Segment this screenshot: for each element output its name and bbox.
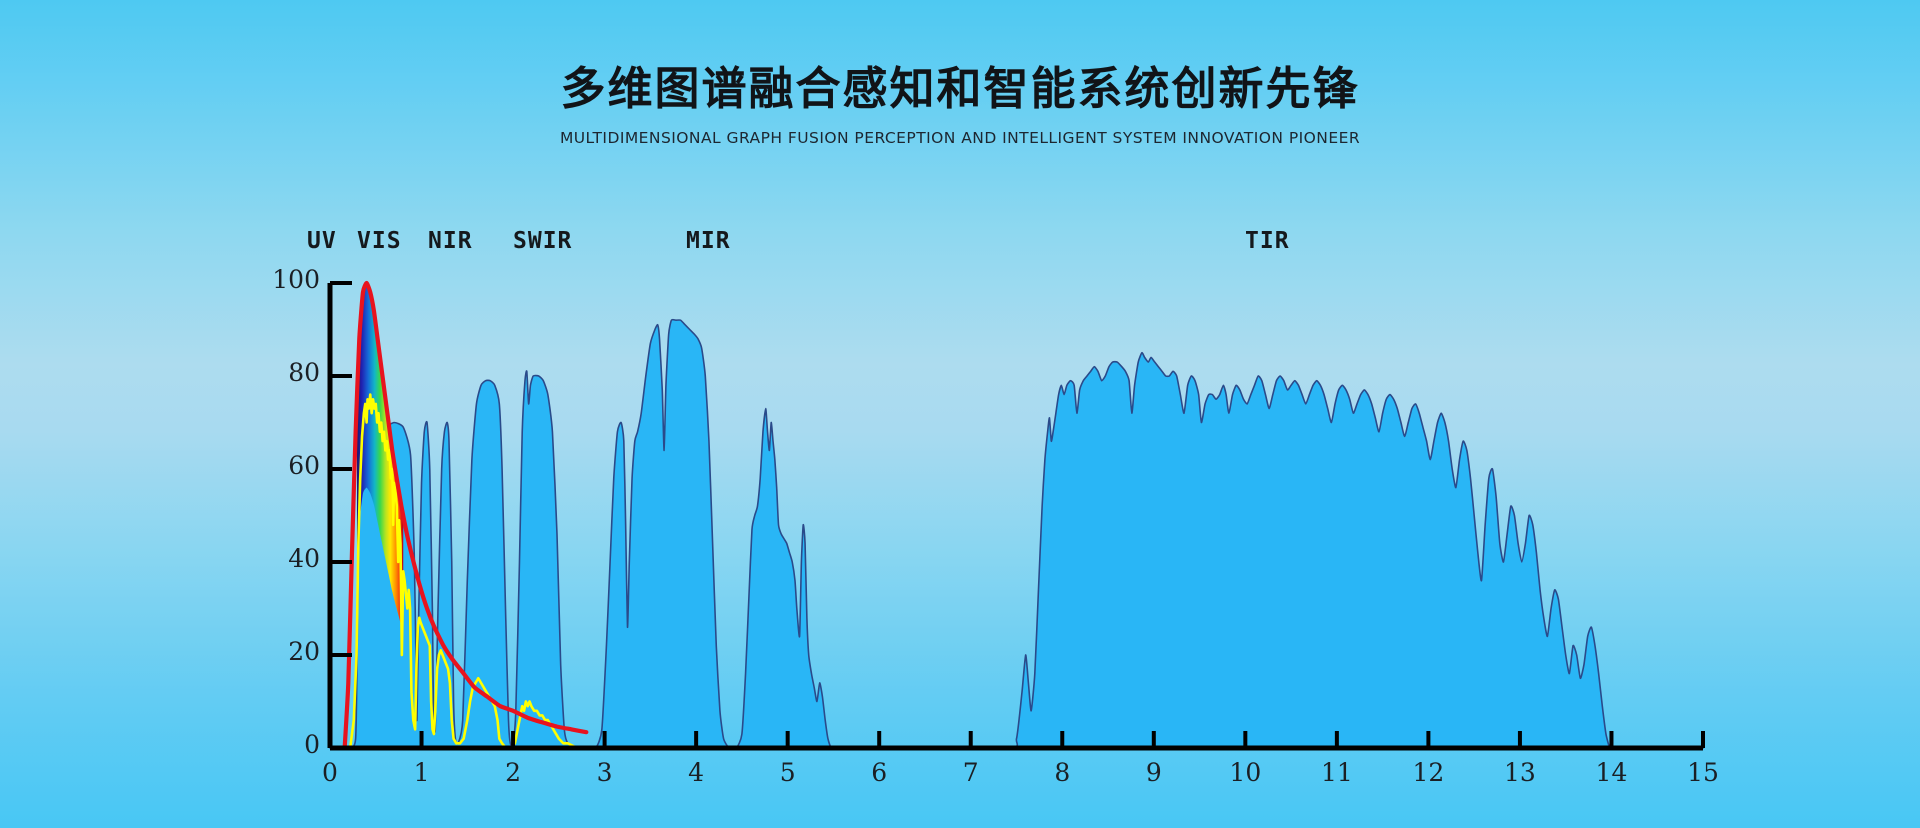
x-tick-label: 14 <box>1589 758 1633 787</box>
atmospheric-transmission-area <box>330 320 1703 749</box>
x-tick-label: 9 <box>1132 758 1176 787</box>
x-tick-label: 11 <box>1315 758 1359 787</box>
y-tick-label: 80 <box>252 358 320 387</box>
chart-canvas <box>0 0 1920 828</box>
x-tick-label: 3 <box>583 758 627 787</box>
x-tick-label: 13 <box>1498 758 1542 787</box>
x-tick-label: 5 <box>766 758 810 787</box>
x-tick-label: 10 <box>1223 758 1267 787</box>
y-tick-label: 0 <box>252 730 320 759</box>
y-tick-label: 40 <box>252 544 320 573</box>
x-tick-label: 7 <box>949 758 993 787</box>
x-tick-label: 0 <box>308 758 352 787</box>
band-label-uv: UV <box>307 228 337 254</box>
x-tick-label: 2 <box>491 758 535 787</box>
plot-root <box>330 283 1703 749</box>
y-tick-label: 20 <box>252 637 320 666</box>
x-tick-label: 12 <box>1406 758 1450 787</box>
y-tick-label: 100 <box>252 265 320 294</box>
band-label-vis: VIS <box>357 228 402 254</box>
x-tick-label: 4 <box>674 758 718 787</box>
x-tick-label: 15 <box>1681 758 1725 787</box>
spectrum-chart: UV VIS NIR SWIR MIR TIR 0123456789101112… <box>0 0 1920 828</box>
band-label-swir: SWIR <box>513 228 572 254</box>
band-label-nir: NIR <box>428 228 473 254</box>
x-tick-label: 1 <box>400 758 444 787</box>
y-tick-label: 60 <box>252 451 320 480</box>
x-tick-label: 6 <box>857 758 901 787</box>
x-tick-label: 8 <box>1040 758 1084 787</box>
band-label-tir: TIR <box>1245 228 1290 254</box>
band-label-mir: MIR <box>686 228 731 254</box>
